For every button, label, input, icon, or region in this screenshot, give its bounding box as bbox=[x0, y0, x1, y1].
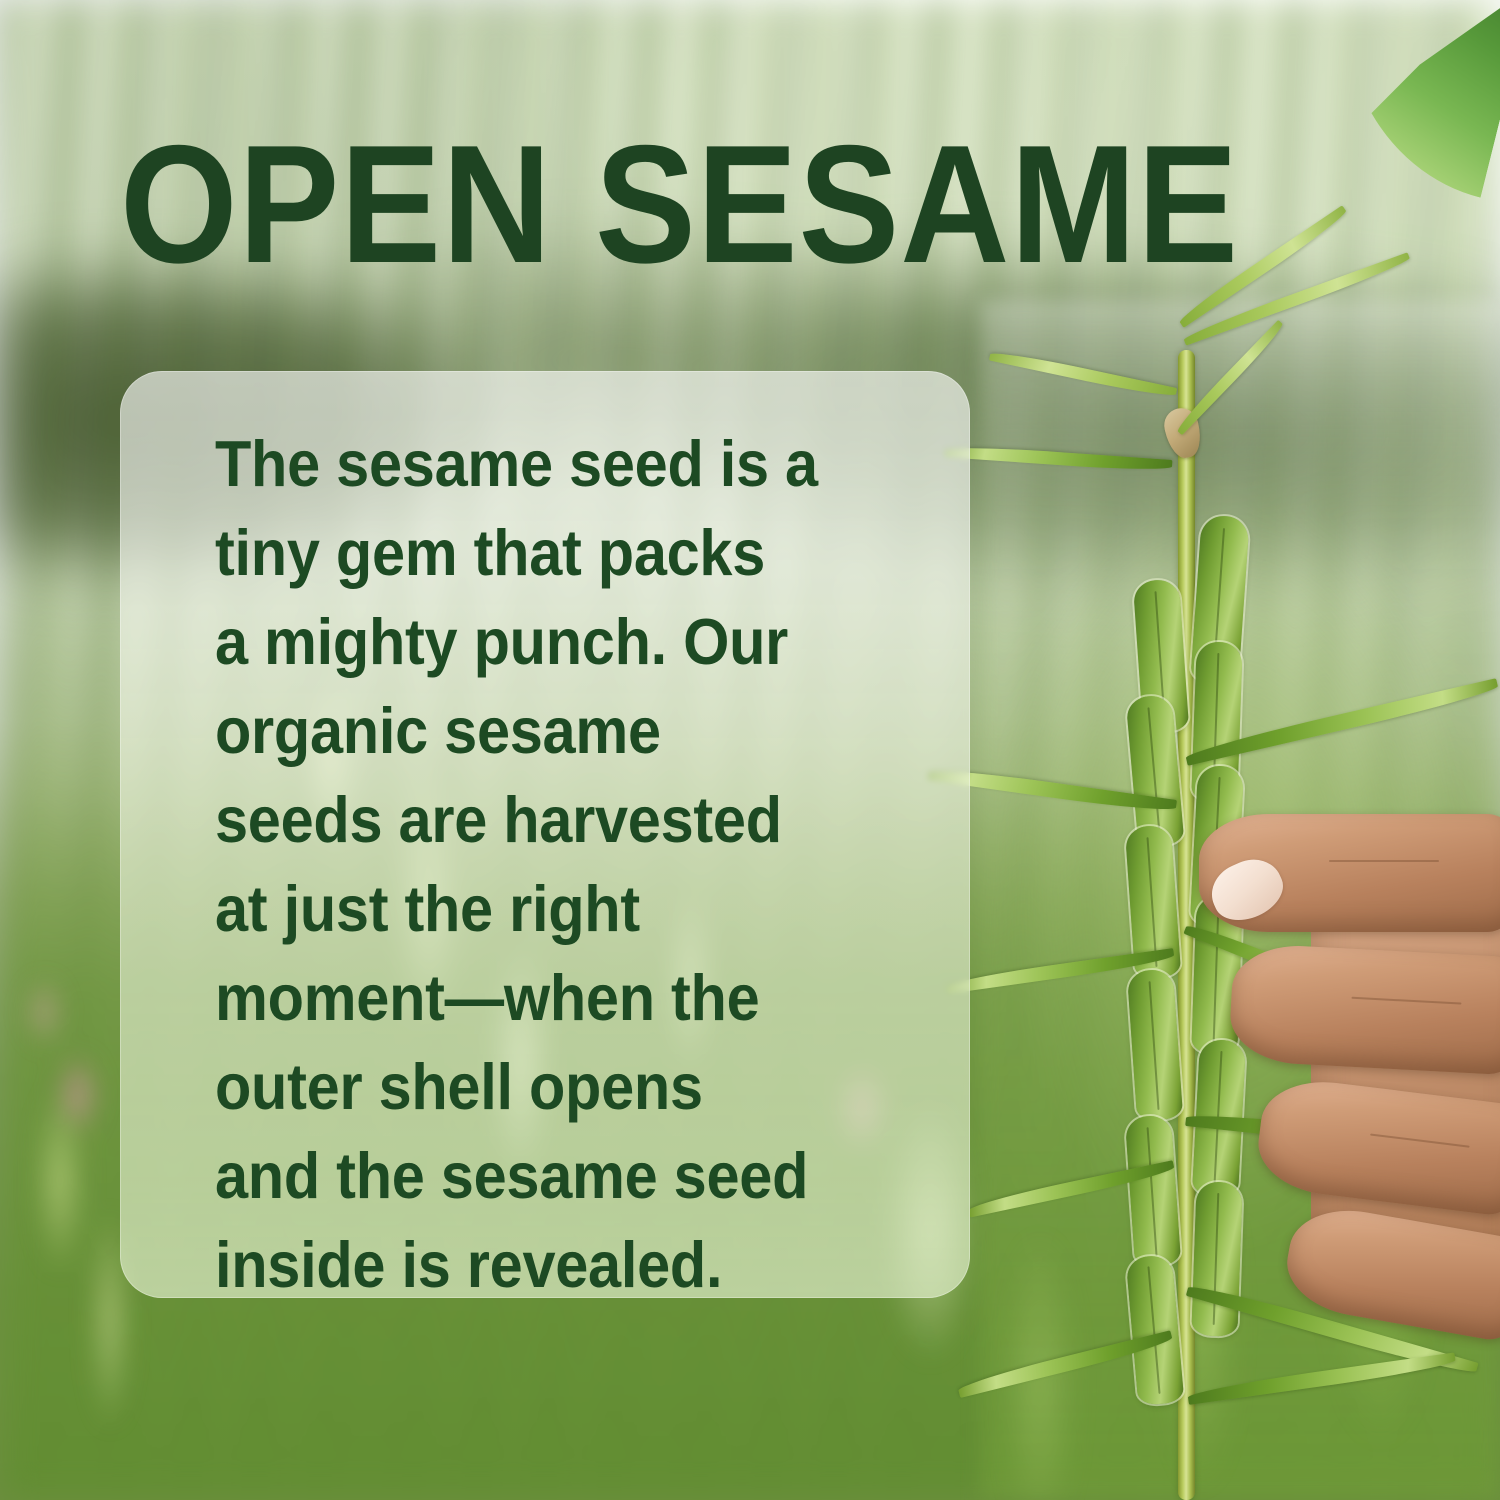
seed-pod bbox=[1125, 1115, 1181, 1268]
text-card: The sesame seed is a tiny gem that packs… bbox=[120, 371, 970, 1298]
poster-canvas: The sesame seed is a tiny gem that packs… bbox=[0, 0, 1500, 1500]
hand bbox=[1185, 800, 1500, 1460]
plant-leaf bbox=[989, 349, 1177, 400]
page-title: OPEN SESAME bbox=[120, 128, 1239, 280]
body-paragraph: The sesame seed is a tiny gem that packs… bbox=[215, 419, 856, 1309]
seed-pod bbox=[1126, 1254, 1185, 1405]
middle-finger bbox=[1228, 943, 1500, 1076]
seed-pod bbox=[1127, 969, 1183, 1122]
